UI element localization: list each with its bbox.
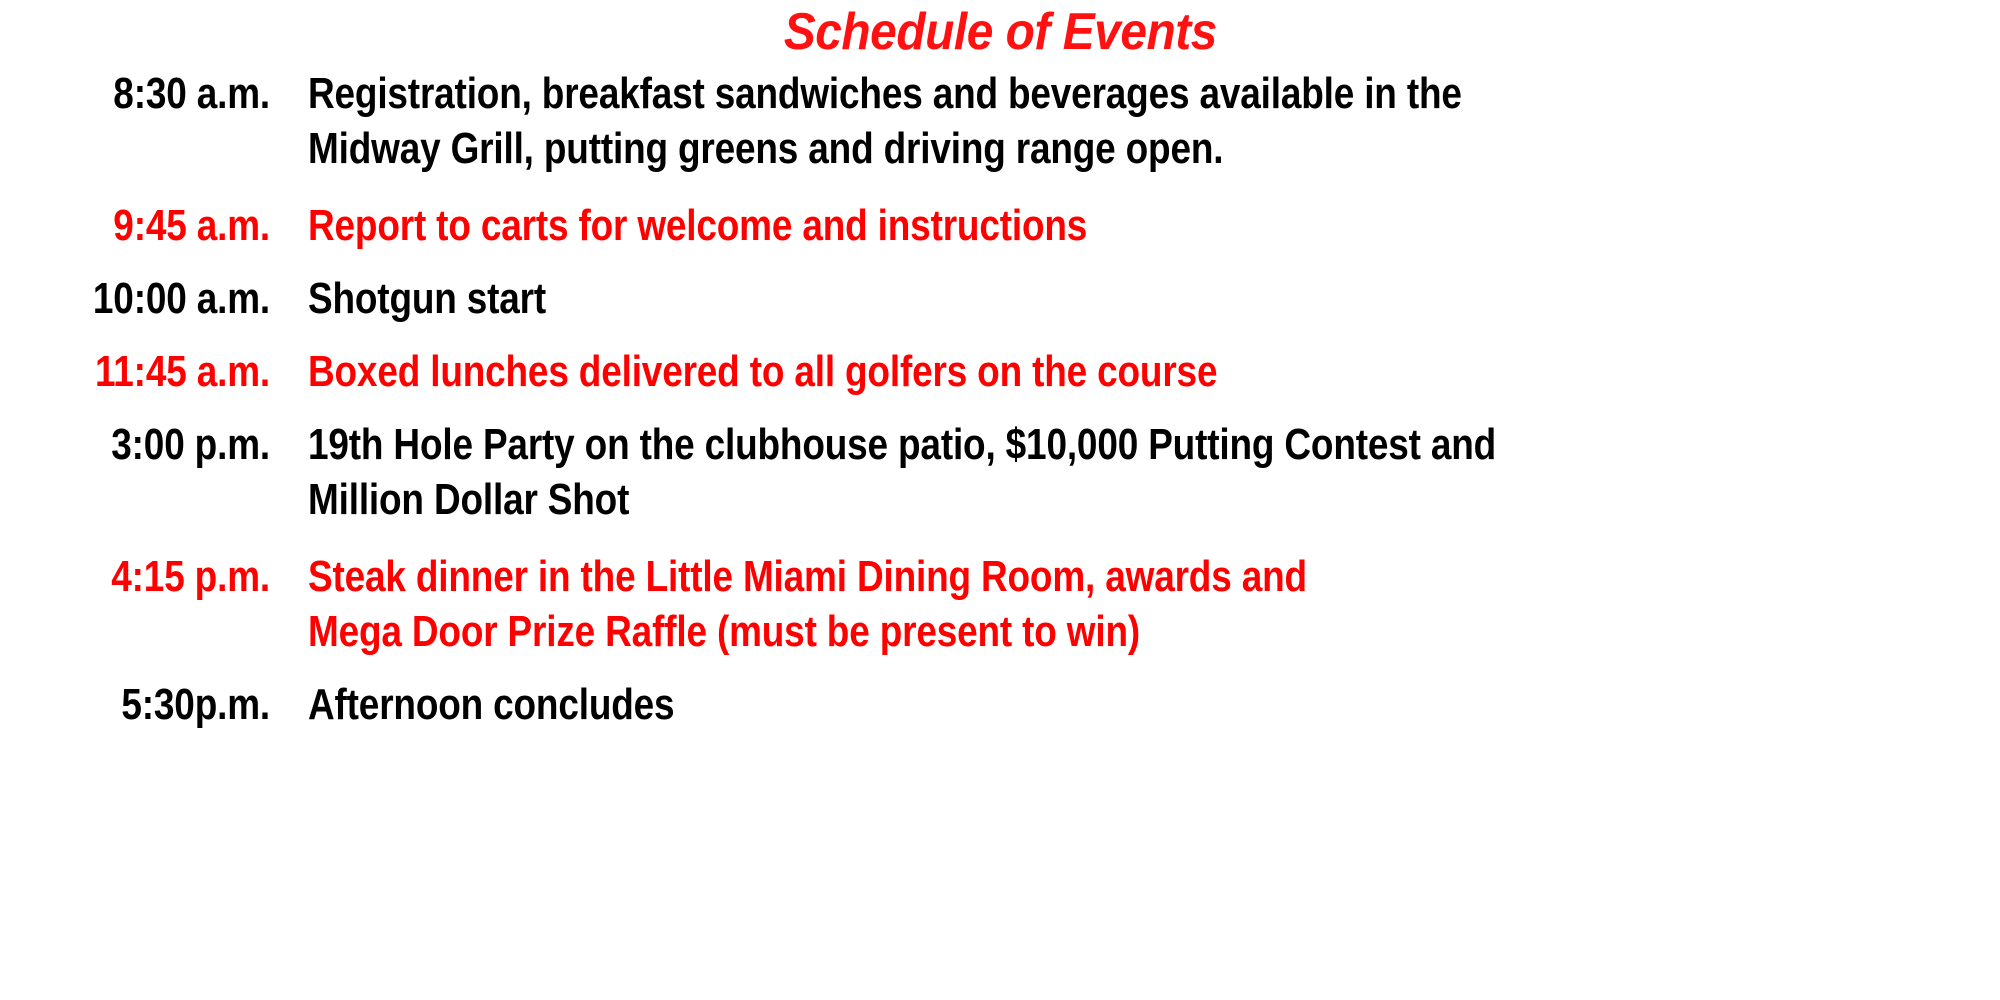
schedule-description-line: Registration, breakfast sandwiches and b… xyxy=(308,66,1729,121)
schedule-time-cell: 10:00 a.m. xyxy=(0,271,270,326)
schedule-row: 3:00 p.m.19th Hole Party on the clubhous… xyxy=(0,417,2000,527)
schedule-list: 8:30 a.m.Registration, breakfast sandwic… xyxy=(0,66,2000,744)
schedule-time-cell: 8:30 a.m. xyxy=(0,66,270,121)
schedule-description-line: Mega Door Prize Raffle (must be present … xyxy=(308,604,1729,659)
schedule-description-cell: Shotgun start xyxy=(270,271,2000,326)
schedule-row: 4:15 p.m.Steak dinner in the Little Miam… xyxy=(0,549,2000,659)
schedule-description-cell: Report to carts for welcome and instruct… xyxy=(270,198,2000,253)
schedule-time-cell: 4:15 p.m. xyxy=(0,549,270,604)
schedule-time: 4:15 p.m. xyxy=(43,549,270,604)
page-title-container: Schedule of Events xyxy=(0,6,2000,58)
schedule-time-cell: 9:45 a.m. xyxy=(0,198,270,253)
schedule-time: 10:00 a.m. xyxy=(43,271,270,326)
schedule-description-line: Midway Grill, putting greens and driving… xyxy=(308,121,1729,176)
schedule-description-line: Report to carts for welcome and instruct… xyxy=(308,198,1729,253)
schedule-row: 11:45 a.m.Boxed lunches delivered to all… xyxy=(0,344,2000,399)
schedule-description-cell: 19th Hole Party on the clubhouse patio, … xyxy=(270,417,2000,527)
schedule-time: 8:30 a.m. xyxy=(43,66,270,121)
schedule-row: 8:30 a.m.Registration, breakfast sandwic… xyxy=(0,66,2000,176)
schedule-time: 11:45 a.m. xyxy=(43,344,270,399)
schedule-row: 5:30p.m.Afternoon concludes xyxy=(0,677,2000,732)
schedule-time-cell: 5:30p.m. xyxy=(0,677,270,732)
schedule-description-line: Million Dollar Shot xyxy=(308,472,1729,527)
schedule-description-cell: Boxed lunches delivered to all golfers o… xyxy=(270,344,2000,399)
schedule-time: 3:00 p.m. xyxy=(43,417,270,472)
schedule-description-line: 19th Hole Party on the clubhouse patio, … xyxy=(308,417,1729,472)
schedule-row: 10:00 a.m.Shotgun start xyxy=(0,271,2000,326)
schedule-page: Schedule of Events 8:30 a.m.Registration… xyxy=(0,0,2000,1000)
schedule-time: 9:45 a.m. xyxy=(43,198,270,253)
schedule-description-cell: Afternoon concludes xyxy=(270,677,2000,732)
schedule-time-cell: 3:00 p.m. xyxy=(0,417,270,472)
schedule-description-line: Shotgun start xyxy=(308,271,1729,326)
schedule-description-line: Boxed lunches delivered to all golfers o… xyxy=(308,344,1729,399)
schedule-time: 5:30p.m. xyxy=(43,677,270,732)
schedule-time-cell: 11:45 a.m. xyxy=(0,344,270,399)
schedule-description-cell: Registration, breakfast sandwiches and b… xyxy=(270,66,2000,176)
schedule-description-cell: Steak dinner in the Little Miami Dining … xyxy=(270,549,2000,659)
schedule-description-line: Steak dinner in the Little Miami Dining … xyxy=(308,549,1729,604)
schedule-row: 9:45 a.m.Report to carts for welcome and… xyxy=(0,198,2000,253)
page-title: Schedule of Events xyxy=(783,6,1216,58)
schedule-description-line: Afternoon concludes xyxy=(308,677,1729,732)
